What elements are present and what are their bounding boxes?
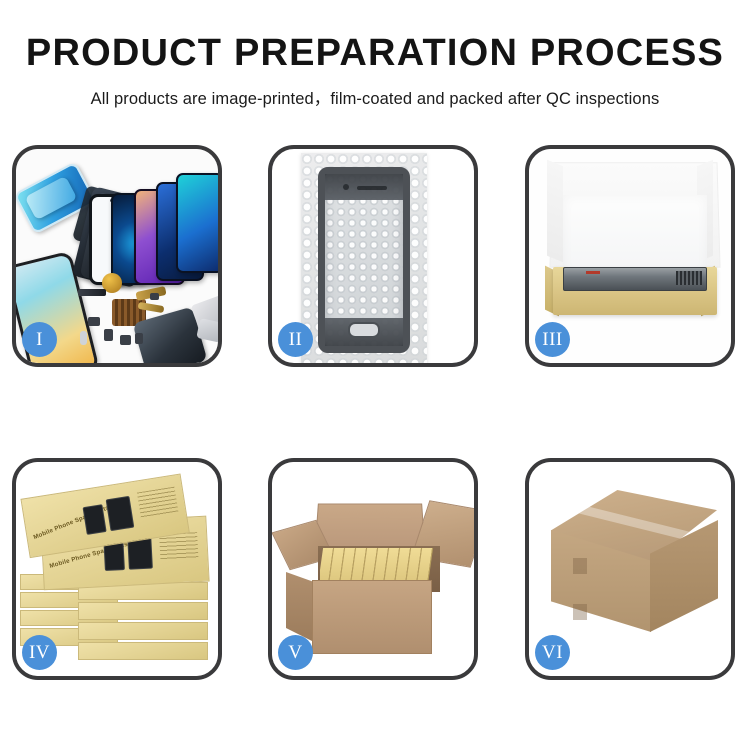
- front-camera-icon: [343, 184, 349, 190]
- stacked-box-r4: [78, 642, 206, 658]
- glass-top-bezel: [325, 174, 403, 200]
- box-phone-image-1: [83, 504, 107, 535]
- box-phone-image-1: [104, 542, 125, 571]
- small-component-4: [135, 333, 143, 344]
- foam-lining: [563, 195, 707, 275]
- step-badge-4: IV: [22, 635, 57, 670]
- small-component-3: [120, 335, 131, 345]
- steps-grid: I II: [12, 145, 738, 680]
- step-badge-1: I: [22, 322, 57, 357]
- step-image-4: Mobile Phone Spare Parts Mobile Phone Sp…: [16, 462, 218, 676]
- box-lid-left-flap: [547, 160, 563, 262]
- small-component-1: [88, 317, 100, 326]
- stacked-box-r3: [78, 622, 206, 638]
- header: PRODUCT PREPARATION PROCESS All products…: [0, 0, 750, 109]
- carton-handle-cutout-1: [573, 558, 587, 574]
- phone-front-glass: [318, 167, 410, 353]
- step-panel-3: III: [525, 145, 735, 367]
- product-preparation-infographic: PRODUCT PREPARATION PROCESS All products…: [0, 0, 750, 750]
- phone-screen-teal-wallpaper: [176, 173, 218, 273]
- page-title: PRODUCT PREPARATION PROCESS: [0, 0, 750, 74]
- stacked-box-r2: [78, 602, 206, 618]
- step-image-5: V: [272, 462, 474, 676]
- box-lid-face: [78, 622, 208, 640]
- page-subtitle: All products are image-printed，film-coat…: [0, 74, 750, 109]
- step-panel-6: VI: [525, 458, 735, 680]
- carton-front-face: [312, 580, 432, 654]
- step-image-1: I: [16, 149, 218, 363]
- box-lid-face: [78, 642, 208, 660]
- speaker-strip-component: [78, 289, 106, 296]
- box-phone-image-2: [106, 496, 135, 531]
- box-lid-face: [78, 602, 208, 620]
- step-badge-2: II: [278, 322, 313, 357]
- part-connector-icon: [676, 271, 702, 285]
- carton-side-left: [286, 572, 314, 642]
- step-badge-3: III: [535, 322, 570, 357]
- step-panel-1: I: [12, 145, 222, 367]
- carton-handle-cutout-2: [573, 604, 587, 620]
- step-badge-5: V: [278, 635, 313, 670]
- step-badge-6: VI: [535, 635, 570, 670]
- home-button-icon: [348, 322, 380, 338]
- step-image-2: II: [272, 149, 474, 363]
- step-image-6: VI: [529, 462, 731, 676]
- earpiece-speaker-icon: [357, 186, 387, 190]
- bubble-wrapped-screen-scene: [301, 153, 427, 363]
- step-image-3: III: [529, 149, 731, 363]
- part-marking: [586, 271, 600, 274]
- packed-phone-part: [563, 267, 707, 291]
- step-panel-4: Mobile Phone Spare Parts Mobile Phone Sp…: [12, 458, 222, 680]
- step-panel-2: II: [268, 145, 478, 367]
- step-panel-5: V: [268, 458, 478, 680]
- small-component-6: [150, 293, 159, 300]
- small-component-2: [104, 329, 113, 341]
- small-component-5: [80, 331, 87, 345]
